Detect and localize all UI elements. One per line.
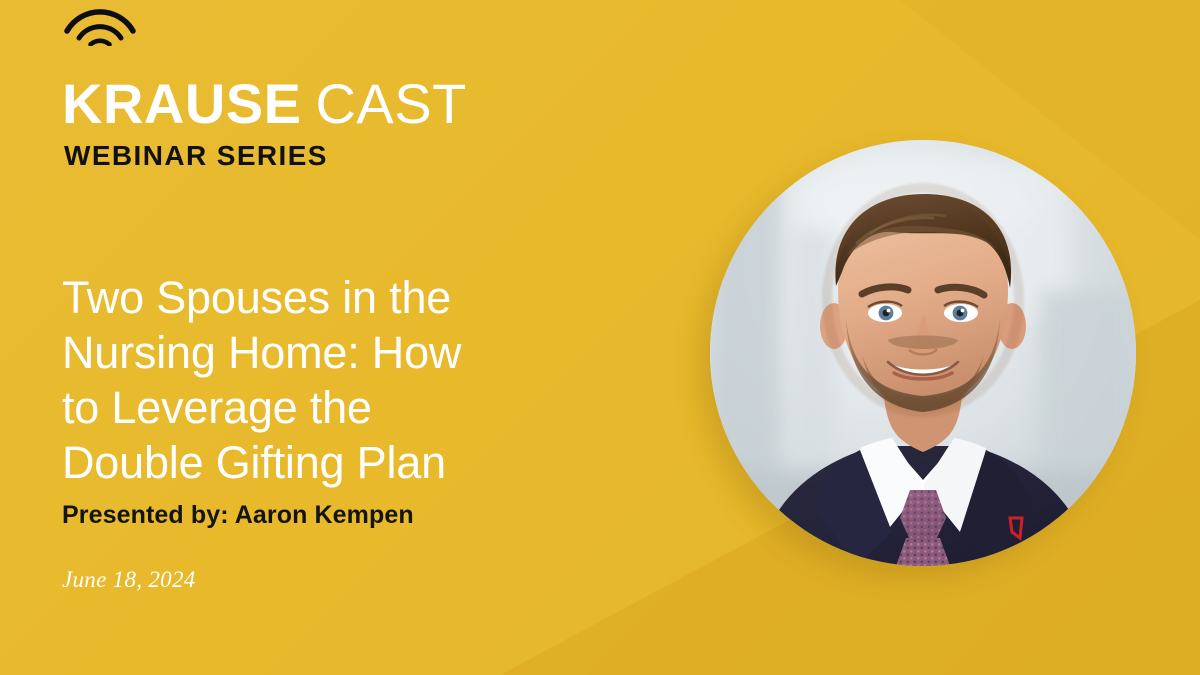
wifi-signal-icon bbox=[62, 2, 138, 46]
webinar-title-slide: KRAUSECAST WEBINAR SERIES Two Spouses in… bbox=[0, 0, 1200, 675]
speaker-portrait-image bbox=[710, 140, 1136, 566]
logo-brand-secondary: CAST bbox=[315, 72, 466, 135]
page-title: Two Spouses in the Nursing Home: How to … bbox=[62, 270, 622, 490]
logo-subtitle: WEBINAR SERIES bbox=[64, 140, 328, 172]
headline-line-3: to Leverage the bbox=[62, 380, 622, 435]
presenter-line: Presented by: Aaron Kempen bbox=[62, 501, 414, 530]
headline-line-4: Double Gifting Plan bbox=[62, 435, 622, 490]
headline-line-1: Two Spouses in the bbox=[62, 270, 622, 325]
headline-line-2: Nursing Home: How bbox=[62, 325, 622, 380]
event-date: June 18, 2024 bbox=[62, 567, 196, 593]
speaker-portrait bbox=[710, 140, 1136, 566]
logo-wordmark: KRAUSECAST bbox=[62, 76, 467, 132]
logo-brand-primary: KRAUSE bbox=[62, 72, 301, 135]
